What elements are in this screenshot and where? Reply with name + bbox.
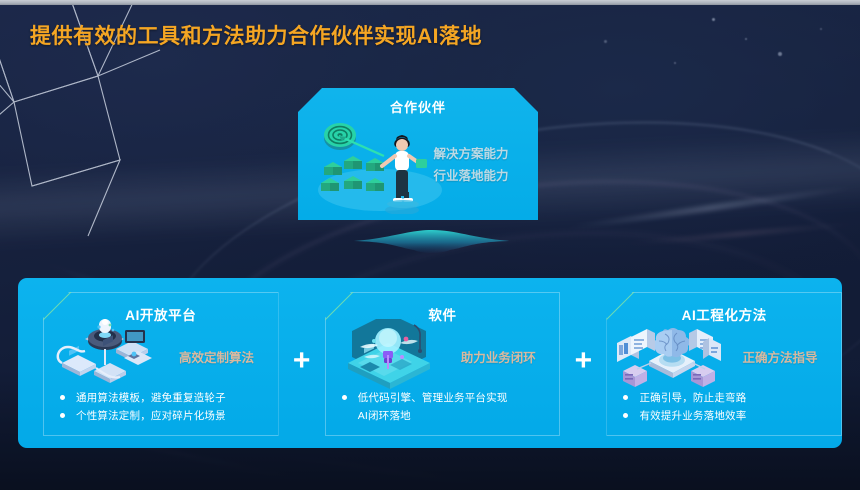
feature-bullet-list: 正确引导，防止走弯路 有效提升业务落地效率 xyxy=(617,389,833,425)
connector-glow-shape xyxy=(352,228,512,260)
brain-dashboard-isometric-icon xyxy=(615,319,723,391)
partner-capability-list: 解决方案能力 行业落地能力 xyxy=(416,144,526,188)
star-speck xyxy=(745,38,747,40)
feature-card-software[interactable]: 软件 xyxy=(325,292,561,436)
feature-bullet: 通用算法模板，避免重复造轮子 xyxy=(54,389,270,407)
window-top-strip xyxy=(0,0,860,5)
feature-bullet: 低代码引擎、管理业务平台实现 xyxy=(336,389,552,407)
feature-bullet: 个性算法定制，应对碎片化场景 xyxy=(54,407,270,425)
feature-subtitle: 正确方法指导 xyxy=(727,347,833,366)
feature-bullet: AI闭环落地 xyxy=(336,407,552,425)
feature-bullet: 正确引导，防止走弯路 xyxy=(617,389,833,407)
partner-card-title: 合作伙伴 xyxy=(298,97,538,116)
star-speck xyxy=(778,52,782,56)
feature-bullet-list: 通用算法模板，避免重复造轮子 个性算法定制，应对碎片化场景 xyxy=(54,389,270,425)
features-panel: AI开放平台 xyxy=(18,278,842,448)
partner-capability-item: 行业落地能力 xyxy=(416,166,526,188)
feature-bullet-list: 低代码引擎、管理业务平台实现 AI闭环落地 xyxy=(336,389,552,425)
plus-separator-2: + xyxy=(560,278,606,448)
partner-card[interactable]: 合作伙伴 xyxy=(298,88,538,220)
feature-subtitle: 助力业务闭环 xyxy=(445,347,551,366)
lightbulb-tablet-isometric-icon xyxy=(334,319,442,391)
feature-card-ai-engineering[interactable]: AI工程化方法 xyxy=(606,292,842,436)
star-speck xyxy=(712,18,715,21)
page-title: 提供有效的工具和方法助力合作伙伴实现AI落地 xyxy=(30,22,510,51)
ai-platform-isometric-icon xyxy=(52,319,160,391)
star-speck xyxy=(604,40,607,43)
star-speck xyxy=(820,28,822,30)
feature-subtitle: 高效定制算法 xyxy=(164,347,270,366)
partner-capability-item: 解决方案能力 xyxy=(416,144,526,166)
plus-separator-1: + xyxy=(279,278,325,448)
feature-card-ai-platform[interactable]: AI开放平台 xyxy=(43,292,279,436)
star-speck xyxy=(674,62,676,64)
feature-bullet: 有效提升业务落地效率 xyxy=(617,407,833,425)
